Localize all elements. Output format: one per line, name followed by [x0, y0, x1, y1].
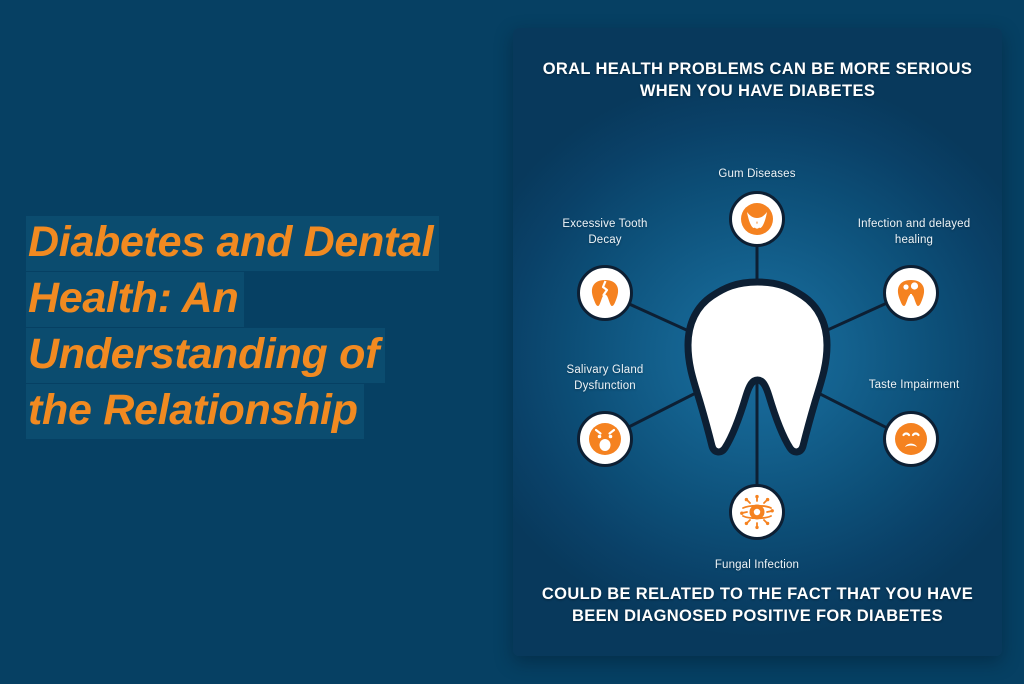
- page-title-line-4: the Relationship: [26, 383, 496, 439]
- node-salivary-gland-dysfunction-label: Salivary Gland Dysfunction: [535, 363, 675, 395]
- radial-diagram: Gum Diseases Excessive Tooth Decay Infec…: [513, 124, 1002, 584]
- infographic-footer-line-1: COULD BE RELATED TO THE FACT THAT YOU HA…: [535, 583, 980, 605]
- infographic-headline: ORAL HEALTH PROBLEMS CAN BE MORE SERIOUS…: [535, 58, 980, 103]
- infographic-footer-line-2: BEEN DIAGNOSED POSITIVE FOR DIABETES: [535, 605, 980, 627]
- node-infection-delayed-healing[interactable]: [883, 265, 939, 321]
- infographic-footer: COULD BE RELATED TO THE FACT THAT YOU HA…: [535, 583, 980, 628]
- node-excessive-tooth-decay-label: Excessive Tooth Decay: [535, 217, 675, 249]
- infographic-card: ORAL HEALTH PROBLEMS CAN BE MORE SERIOUS…: [513, 28, 1002, 656]
- node-fungal-infection[interactable]: [729, 484, 785, 540]
- page-title-line-2: Health: An: [26, 271, 496, 327]
- page-title-line-3: Understanding of: [26, 327, 496, 383]
- sad-face-icon: [894, 422, 928, 456]
- node-taste-impairment-label: Taste Impairment: [839, 378, 989, 394]
- infographic-headline-line-2: WHEN YOU HAVE DIABETES: [535, 80, 980, 102]
- node-infection-delayed-healing-label: Infection and delayed healing: [839, 217, 989, 249]
- tooth-icon: [680, 276, 835, 458]
- page-title-line-1: Diabetes and Dental: [26, 215, 496, 271]
- cracked-tooth-icon: [589, 277, 621, 309]
- infographic-headline-line-1: ORAL HEALTH PROBLEMS CAN BE MORE SERIOUS: [535, 58, 980, 80]
- title-area: Diabetes and Dental Health: An Understan…: [0, 0, 505, 684]
- infected-tooth-icon: [895, 277, 927, 309]
- dry-mouth-face-icon: [588, 422, 622, 456]
- microbe-icon: [739, 494, 775, 530]
- node-gum-diseases[interactable]: [729, 191, 785, 247]
- page-title: Diabetes and Dental Health: An Understan…: [26, 215, 496, 439]
- node-excessive-tooth-decay[interactable]: [577, 265, 633, 321]
- node-gum-diseases-label: Gum Diseases: [692, 167, 822, 183]
- gum-disease-icon: [740, 202, 774, 236]
- node-taste-impairment[interactable]: [883, 411, 939, 467]
- node-fungal-infection-label: Fungal Infection: [692, 558, 822, 574]
- node-salivary-gland-dysfunction[interactable]: [577, 411, 633, 467]
